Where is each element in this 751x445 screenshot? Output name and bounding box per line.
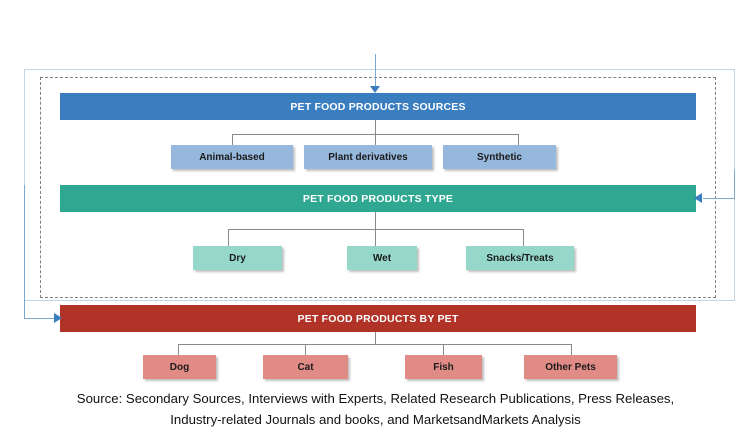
connector-bypet-drop-3 <box>443 344 444 355</box>
leaf-box-other-pets[interactable]: Other Pets <box>524 355 617 379</box>
leaf-box-cat[interactable]: Cat <box>263 355 348 379</box>
source-caption: Source: Secondary Sources, Interviews wi… <box>30 388 721 430</box>
leaf-label-fish: Fish <box>433 362 454 373</box>
leaf-label-snacks-treats: Snacks/Treats <box>486 253 553 264</box>
band-sources-label: PET FOOD PRODUCTS SOURCES <box>290 101 465 113</box>
connector-sources-drop-2 <box>375 134 376 145</box>
band-type-label: PET FOOD PRODUCTS TYPE <box>303 193 453 205</box>
leaf-label-other-pets: Other Pets <box>545 362 596 373</box>
leaf-label-dry: Dry <box>229 253 246 264</box>
leaf-label-cat: Cat <box>297 362 313 373</box>
connector-type-drop-2 <box>375 229 376 246</box>
connector-bypet-drop-4 <box>571 344 572 355</box>
band-pet-food-products-type: PET FOOD PRODUCTS TYPE <box>60 185 696 212</box>
band-pet-food-products-sources: PET FOOD PRODUCTS SOURCES <box>60 93 696 120</box>
band-pet-food-products-market: PET FOOD PRODUCTS MARKET <box>40 24 711 54</box>
connector-sources-stem <box>375 120 376 134</box>
leaf-label-animal-based: Animal-based <box>199 152 265 163</box>
leaf-box-dog[interactable]: Dog <box>143 355 216 379</box>
connector-title-to-sources <box>375 54 376 87</box>
connector-bypet-drop-1 <box>178 344 179 355</box>
leaf-box-dry[interactable]: Dry <box>193 246 282 270</box>
leaf-box-fish[interactable]: Fish <box>405 355 482 379</box>
connector-type-stem <box>375 212 376 229</box>
leaf-label-synthetic: Synthetic <box>477 152 522 163</box>
band-bypet-label: PET FOOD PRODUCTS BY PET <box>298 313 459 325</box>
connector-bypet-stem <box>375 332 376 344</box>
connector-bypet-drop-2 <box>305 344 306 355</box>
band-pet-food-products-by-pet: PET FOOD PRODUCTS BY PET <box>60 305 696 332</box>
connector-sources-drop-3 <box>518 134 519 145</box>
arrow-into-bypet-band-head <box>54 313 62 323</box>
leaf-box-animal-based[interactable]: Animal-based <box>171 145 293 169</box>
leaf-box-synthetic[interactable]: Synthetic <box>443 145 556 169</box>
connector-bypet-rail <box>178 344 572 345</box>
leaf-label-dog: Dog <box>170 362 189 373</box>
band-title-label: PET FOOD PRODUCTS MARKET <box>284 33 468 45</box>
arrow-title-to-sources-head <box>370 86 380 93</box>
connector-right-flow-vertical <box>734 170 735 199</box>
diagram-canvas: PET FOOD PRODUCTS MARKET PET FOOD PRODUC… <box>0 0 751 445</box>
leaf-box-plant-derivatives[interactable]: Plant derivatives <box>304 145 432 169</box>
connector-right-flow-horizontal <box>703 198 735 199</box>
leaf-label-wet: Wet <box>373 253 391 264</box>
connector-type-drop-1 <box>228 229 229 246</box>
source-caption-line-2: Industry-related Journals and books, and… <box>30 409 721 430</box>
arrow-into-type-band-head <box>694 193 702 203</box>
connector-left-flow-horizontal <box>24 318 56 319</box>
source-caption-line-1: Source: Secondary Sources, Interviews wi… <box>30 388 721 409</box>
leaf-box-snacks-treats[interactable]: Snacks/Treats <box>466 246 574 270</box>
connector-sources-drop-1 <box>232 134 233 145</box>
leaf-box-wet[interactable]: Wet <box>347 246 417 270</box>
connector-left-flow-vertical <box>24 185 25 319</box>
connector-type-drop-3 <box>523 229 524 246</box>
leaf-label-plant-derivatives: Plant derivatives <box>328 152 407 163</box>
